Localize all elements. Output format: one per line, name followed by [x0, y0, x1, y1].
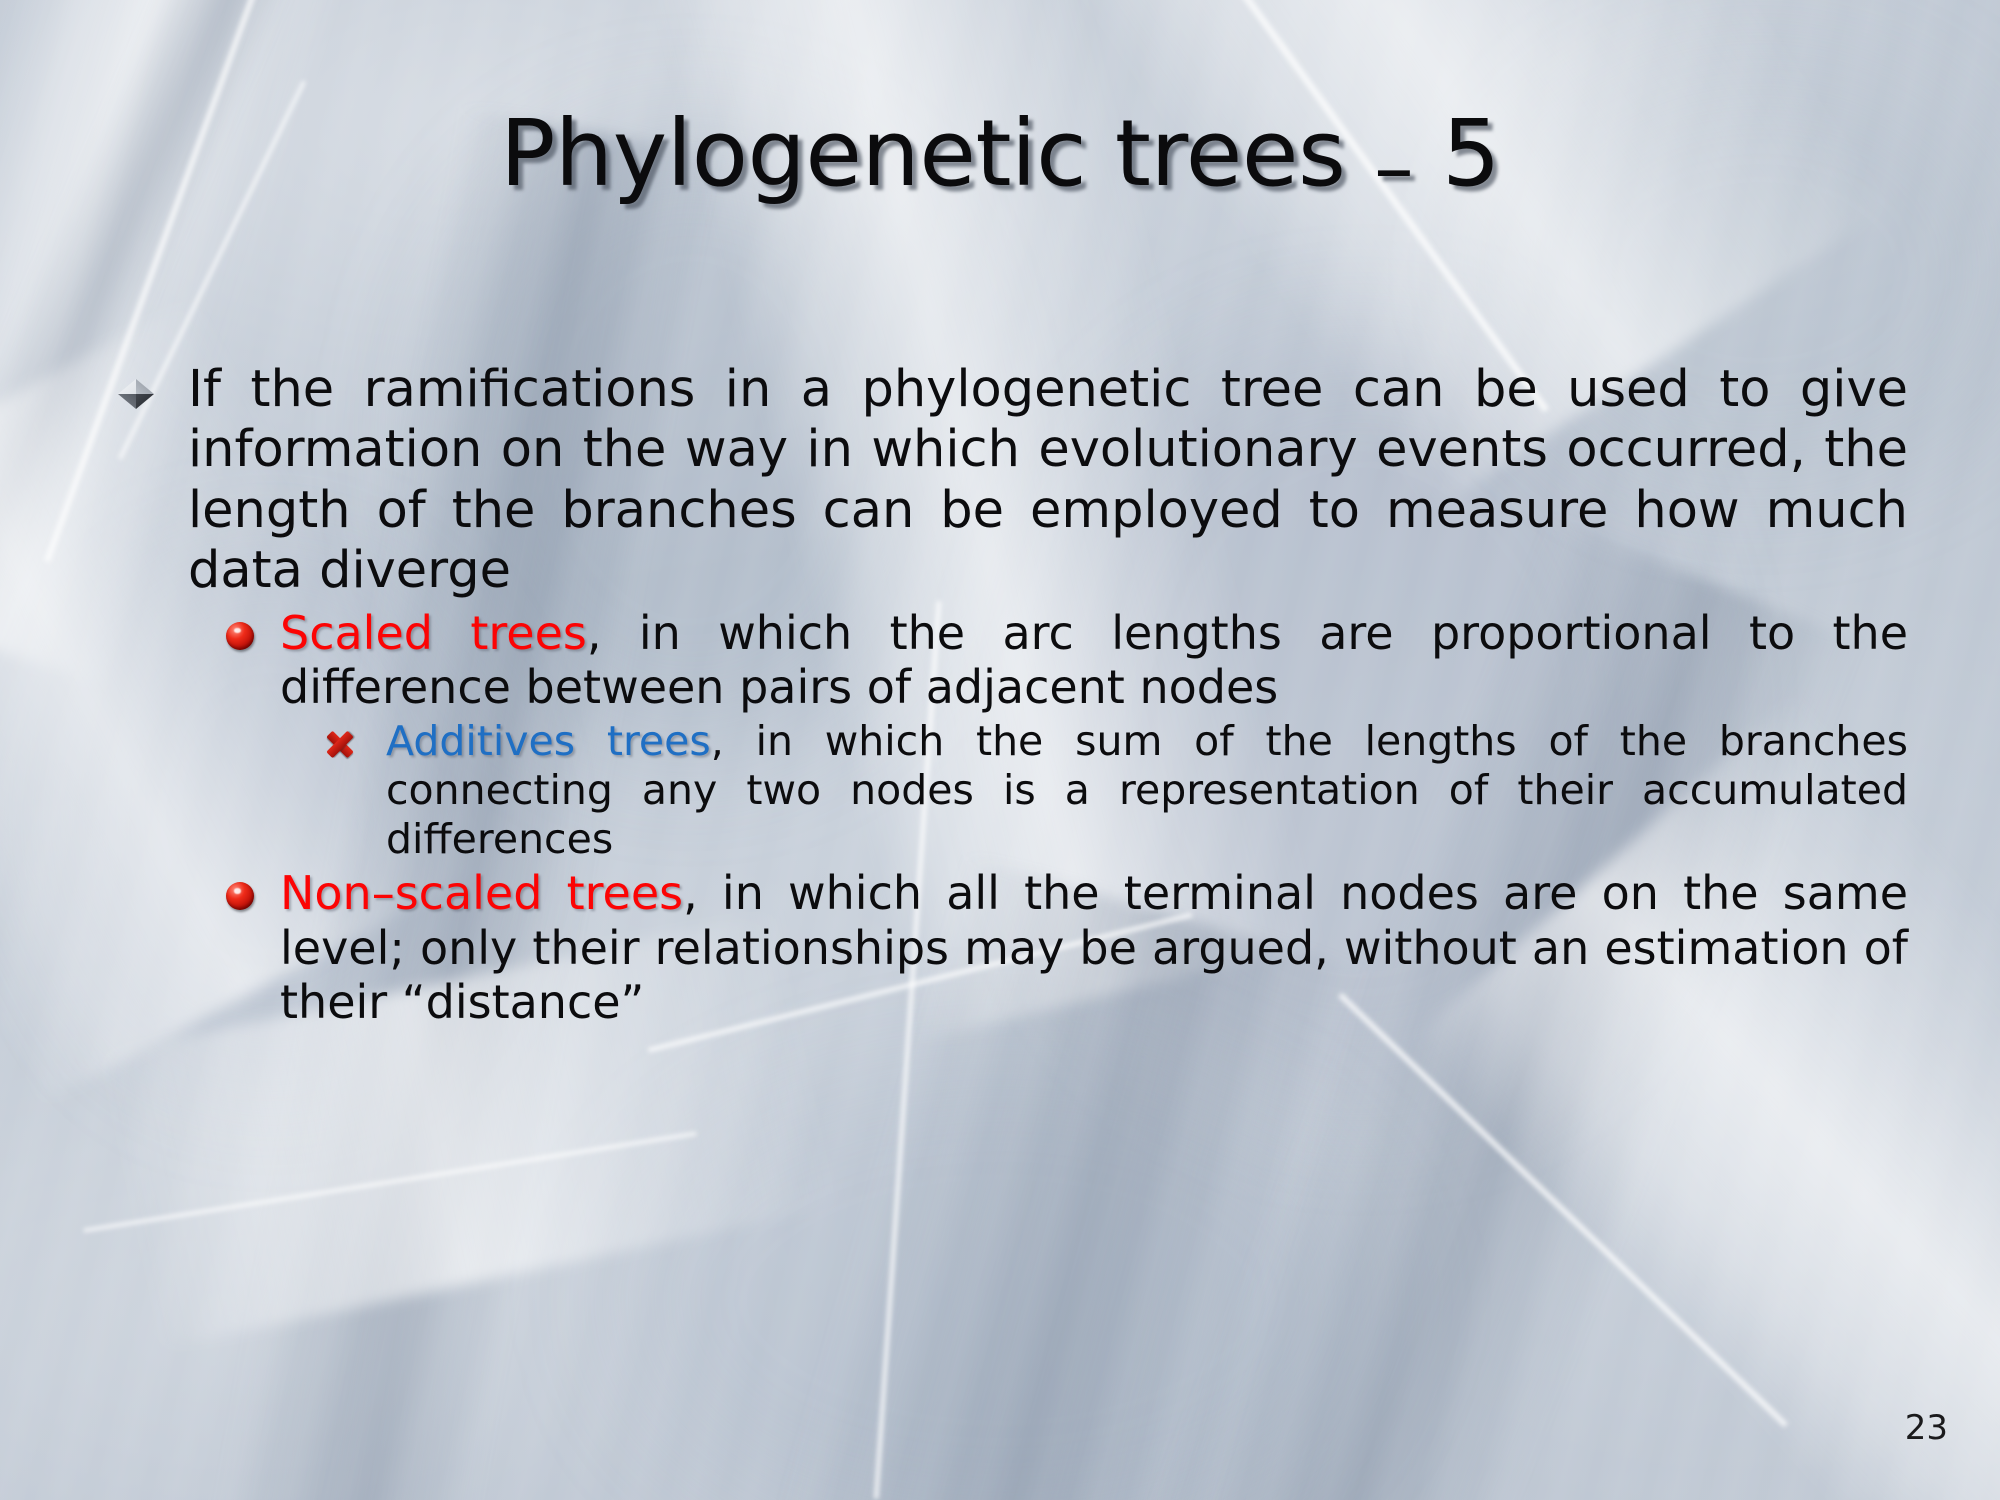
red-cross-bullet-icon [326, 731, 354, 759]
bullet-level2-non-scaled-trees: Non–scaled trees, in which all the termi… [118, 866, 1908, 1030]
slide-body: If the ramifications in a phylogenetic t… [118, 360, 1908, 1032]
term-additives-trees: Additives trees [386, 717, 711, 765]
slide-title-dash: – [1374, 122, 1413, 214]
red-sphere-bullet-icon [226, 882, 254, 910]
bullet-level3-additives-trees: Additives trees, in which the sum of the… [118, 717, 1908, 865]
slide-canvas: Phylogenetic trees – 5 If the ramificati… [0, 0, 2000, 1500]
red-sphere-bullet-icon [226, 622, 254, 650]
term-scaled-trees: Scaled trees [280, 606, 587, 660]
slide-title-number: 5 [1442, 100, 1500, 207]
term-non-scaled-trees: Non–scaled trees [280, 866, 683, 920]
bullet-level1-text: If the ramifications in a phylogenetic t… [188, 360, 1908, 602]
bullet-level1: If the ramifications in a phylogenetic t… [118, 360, 1908, 602]
slide-title: Phylogenetic trees – 5 [0, 108, 2000, 200]
page-number: 23 [1905, 1408, 1948, 1448]
diamond-arrow-bullet-icon [118, 379, 154, 409]
slide-title-text: Phylogenetic trees [500, 100, 1345, 207]
bullet-level2-scaled-trees: Scaled trees, in which the arc lengths a… [118, 606, 1908, 715]
